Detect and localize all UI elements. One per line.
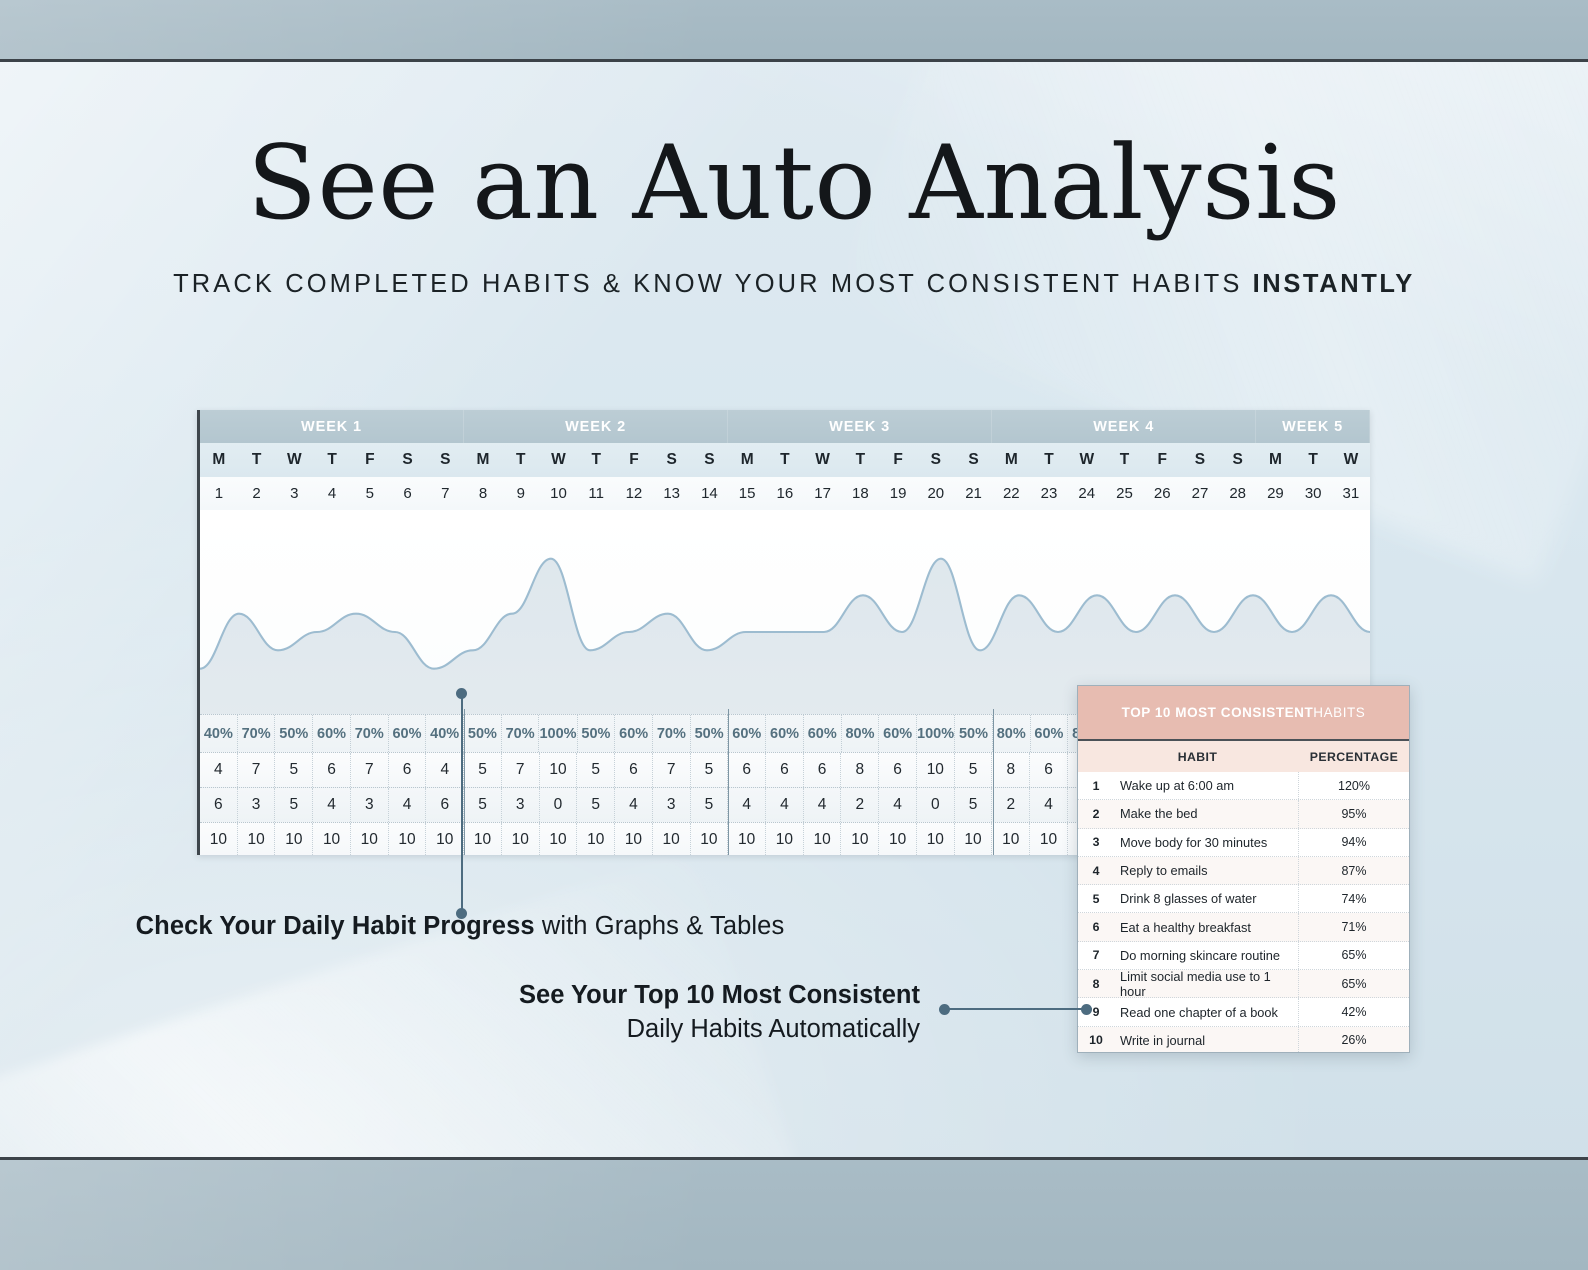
- habit-rank: 2: [1078, 807, 1114, 821]
- remaining-cell: 3: [238, 788, 276, 822]
- total-cell: 10: [502, 823, 540, 855]
- completed-cell: 5: [691, 753, 729, 787]
- total-cell: 10: [351, 823, 389, 855]
- day-of-week-cell: T: [1106, 443, 1144, 477]
- date-cell: 22: [992, 477, 1030, 510]
- date-cell: 15: [728, 477, 766, 510]
- day-of-week-cell: F: [351, 443, 389, 477]
- completed-cell: 4: [426, 753, 464, 787]
- date-cell: 31: [1332, 477, 1370, 510]
- connector-line-vertical: [461, 693, 463, 913]
- percent-cell: 60%: [615, 715, 653, 752]
- remaining-cell: 3: [502, 788, 540, 822]
- top-10-table-row[interactable]: 7Do morning skincare routine65%: [1078, 942, 1409, 970]
- date-cell: 4: [313, 477, 351, 510]
- day-of-week-cell: S: [1181, 443, 1219, 477]
- caption2-line2: Daily Habits Automatically: [0, 1012, 920, 1046]
- connector-dot-chart: [456, 688, 467, 699]
- remaining-cell: 5: [691, 788, 729, 822]
- total-cell: 10: [540, 823, 578, 855]
- total-cell: 10: [577, 823, 615, 855]
- completed-cell: 8: [992, 753, 1030, 787]
- habit-name: Reply to emails: [1114, 857, 1299, 884]
- date-cell: 27: [1181, 477, 1219, 510]
- top-10-table-row[interactable]: 2Make the bed95%: [1078, 800, 1409, 828]
- top-10-rows-container: 1Wake up at 6:00 am120%2Make the bed95%3…: [1078, 772, 1409, 1053]
- total-cell: 10: [1030, 823, 1068, 855]
- day-of-week-cell: M: [1257, 443, 1295, 477]
- percent-cell: 100%: [539, 715, 577, 752]
- completed-cell: 6: [615, 753, 653, 787]
- day-of-week-cell: F: [879, 443, 917, 477]
- completed-cell: 5: [275, 753, 313, 787]
- date-cell: 6: [389, 477, 427, 510]
- date-cell: 10: [540, 477, 578, 510]
- percent-cell: 70%: [653, 715, 691, 752]
- habit-percentage: 120%: [1299, 779, 1409, 793]
- top-10-table-row[interactable]: 1Wake up at 6:00 am120%: [1078, 772, 1409, 800]
- top-10-column-header-row: HABIT PERCENTAGE: [1078, 741, 1409, 772]
- date-cell: 7: [426, 477, 464, 510]
- completed-cell: 5: [955, 753, 993, 787]
- total-cell: 10: [389, 823, 427, 855]
- total-cell: 10: [313, 823, 351, 855]
- percent-cell: 60%: [728, 715, 766, 752]
- habit-rank: 1: [1078, 779, 1114, 793]
- caption-daily-habit-progress: Check Your Daily Habit Progress with Gra…: [0, 912, 920, 941]
- total-cell: 10: [917, 823, 955, 855]
- remaining-cell: 3: [653, 788, 691, 822]
- total-cell: 10: [464, 823, 502, 855]
- day-of-week-cell: F: [1143, 443, 1181, 477]
- habit-percentage: 65%: [1299, 948, 1409, 962]
- habit-rank: 8: [1078, 977, 1114, 991]
- percent-cell: 60%: [804, 715, 842, 752]
- habit-rank: 6: [1078, 920, 1114, 934]
- total-cell: 10: [691, 823, 729, 855]
- day-of-week-cell: W: [804, 443, 842, 477]
- top-10-table-row[interactable]: 5Drink 8 glasses of water74%: [1078, 885, 1409, 913]
- remaining-cell: 0: [917, 788, 955, 822]
- date-cell: 21: [955, 477, 993, 510]
- total-cell: 10: [200, 823, 238, 855]
- subtitle-bold-text: INSTANTLY: [1253, 270, 1415, 298]
- day-of-week-cell: T: [841, 443, 879, 477]
- completed-cell: 6: [728, 753, 766, 787]
- completed-cell: 10: [917, 753, 955, 787]
- connector-dot-top10: [1081, 1004, 1092, 1015]
- day-of-week-row: MTWTFSSMTWTFSSMTWTFSSMTWTFSSMTW: [200, 443, 1370, 477]
- day-of-week-cell: S: [691, 443, 729, 477]
- remaining-cell: 4: [615, 788, 653, 822]
- day-of-week-cell: M: [464, 443, 502, 477]
- completed-cell: 6: [804, 753, 842, 787]
- day-of-week-cell: S: [955, 443, 993, 477]
- week-header-row: WEEK 1WEEK 2WEEK 3WEEK 4WEEK 5: [200, 410, 1370, 443]
- day-of-week-cell: W: [1068, 443, 1106, 477]
- completed-cell: 8: [841, 753, 879, 787]
- remaining-cell: 4: [766, 788, 804, 822]
- date-cell: 16: [766, 477, 804, 510]
- column-header-percentage: PERCENTAGE: [1299, 750, 1409, 764]
- completed-cell: 7: [502, 753, 540, 787]
- day-of-week-cell: S: [653, 443, 691, 477]
- date-cell: 12: [615, 477, 653, 510]
- date-number-row: 1234567891011121314151617181920212223242…: [200, 477, 1370, 510]
- remaining-cell: 6: [200, 788, 238, 822]
- day-of-week-cell: T: [238, 443, 276, 477]
- completed-cell: 6: [389, 753, 427, 787]
- day-of-week-cell: S: [917, 443, 955, 477]
- remaining-cell: 4: [879, 788, 917, 822]
- habit-name: Do morning skincare routine: [1114, 942, 1299, 969]
- percent-cell: 40%: [426, 715, 464, 752]
- date-cell: 30: [1294, 477, 1332, 510]
- date-cell: 14: [691, 477, 729, 510]
- remaining-cell: 5: [275, 788, 313, 822]
- week-header-cell: WEEK 1: [200, 410, 464, 443]
- percent-cell: 100%: [917, 715, 955, 752]
- top-10-consistent-habits-panel[interactable]: TOP 10 MOST CONSISTENT HABITS HABIT PERC…: [1077, 685, 1410, 1053]
- remaining-cell: 4: [389, 788, 427, 822]
- habit-rank: 10: [1078, 1033, 1114, 1047]
- habit-rank: 5: [1078, 892, 1114, 906]
- percent-cell: 70%: [502, 715, 540, 752]
- day-of-week-cell: T: [1030, 443, 1068, 477]
- total-cell: 10: [653, 823, 691, 855]
- remaining-cell: 6: [426, 788, 464, 822]
- week-header-cell: WEEK 3: [728, 410, 992, 443]
- date-cell: 8: [464, 477, 502, 510]
- page-subtitle: TRACK COMPLETED HABITS & KNOW YOUR MOST …: [0, 270, 1588, 299]
- percent-cell: 60%: [313, 715, 351, 752]
- remaining-cell: 3: [351, 788, 389, 822]
- day-of-week-cell: T: [313, 443, 351, 477]
- completed-cell: 6: [879, 753, 917, 787]
- date-cell: 29: [1257, 477, 1295, 510]
- page-title: See an Auto Analysis: [0, 130, 1588, 237]
- remaining-cell: 4: [313, 788, 351, 822]
- percent-cell: 50%: [464, 715, 502, 752]
- subtitle-regular-text: TRACK COMPLETED HABITS & KNOW YOUR MOST …: [173, 270, 1253, 298]
- habit-percentage: 26%: [1299, 1033, 1409, 1047]
- percent-cell: 60%: [1031, 715, 1069, 752]
- percent-cell: 50%: [955, 715, 993, 752]
- total-cell: 10: [728, 823, 766, 855]
- day-of-week-cell: M: [200, 443, 238, 477]
- habit-percentage: 95%: [1299, 807, 1409, 821]
- percent-cell: 60%: [879, 715, 917, 752]
- top-10-table-row[interactable]: 6Eat a healthy breakfast71%: [1078, 913, 1409, 941]
- completed-cell: 7: [653, 753, 691, 787]
- habit-percentage: 42%: [1299, 1005, 1409, 1019]
- date-cell: 11: [577, 477, 615, 510]
- date-cell: 25: [1106, 477, 1144, 510]
- caption-top-10-consistent: See Your Top 10 Most Consistent Daily Ha…: [0, 978, 920, 1046]
- top-banner-bar: [0, 0, 1588, 62]
- completed-cell: 6: [313, 753, 351, 787]
- habit-name: Drink 8 glasses of water: [1114, 885, 1299, 912]
- remaining-cell: 5: [577, 788, 615, 822]
- completed-cell: 5: [577, 753, 615, 787]
- remaining-cell: 4: [804, 788, 842, 822]
- percent-cell: 50%: [275, 715, 313, 752]
- completed-cell: 6: [766, 753, 804, 787]
- total-cell: 10: [841, 823, 879, 855]
- date-cell: 18: [841, 477, 879, 510]
- day-of-week-cell: T: [577, 443, 615, 477]
- percent-cell: 50%: [578, 715, 616, 752]
- caption2-line1: See Your Top 10 Most Consistent: [0, 978, 920, 1012]
- week-header-cell: WEEK 5: [1256, 410, 1370, 443]
- habit-name: Write in journal: [1114, 1027, 1299, 1053]
- column-header-habit: HABIT: [1114, 750, 1299, 764]
- completed-cell: 5: [464, 753, 502, 787]
- day-of-week-cell: T: [1294, 443, 1332, 477]
- remaining-cell: 2: [841, 788, 879, 822]
- total-cell: 10: [426, 823, 464, 855]
- completed-cell: 7: [238, 753, 276, 787]
- completed-cell: 10: [540, 753, 578, 787]
- top-10-table-row[interactable]: 8Limit social media use to 1 hour65%: [1078, 970, 1409, 998]
- total-cell: 10: [879, 823, 917, 855]
- percent-cell: 40%: [200, 715, 238, 752]
- habit-name: Make the bed: [1114, 800, 1299, 827]
- habit-name: Wake up at 6:00 am: [1114, 772, 1299, 799]
- day-of-week-cell: W: [275, 443, 313, 477]
- top-10-table-row[interactable]: 3Move body for 30 minutes94%: [1078, 829, 1409, 857]
- percent-cell: 80%: [993, 715, 1031, 752]
- top-10-title-light: HABITS: [1313, 705, 1365, 720]
- habit-percentage: 74%: [1299, 892, 1409, 906]
- top-10-title-strong: TOP 10 MOST CONSISTENT: [1122, 705, 1314, 720]
- total-cell: 10: [955, 823, 993, 855]
- caption1-bold: Check Your Daily Habit Progress: [136, 912, 535, 940]
- week-header-cell: WEEK 4: [992, 410, 1256, 443]
- habit-percentage: 71%: [1299, 920, 1409, 934]
- day-of-week-cell: M: [992, 443, 1030, 477]
- completed-cell: 4: [200, 753, 238, 787]
- connector-line-horizontal: [944, 1008, 1092, 1010]
- day-of-week-cell: W: [540, 443, 578, 477]
- remaining-cell: 4: [728, 788, 766, 822]
- day-of-week-cell: S: [389, 443, 427, 477]
- top-10-table-row[interactable]: 10Write in journal26%: [1078, 1027, 1409, 1053]
- date-cell: 13: [653, 477, 691, 510]
- day-of-week-cell: F: [615, 443, 653, 477]
- date-cell: 23: [1030, 477, 1068, 510]
- date-cell: 20: [917, 477, 955, 510]
- habit-percentage: 65%: [1299, 977, 1409, 991]
- total-cell: 10: [615, 823, 653, 855]
- chart-svg: [200, 510, 1370, 714]
- date-cell: 3: [275, 477, 313, 510]
- remaining-cell: 2: [992, 788, 1030, 822]
- habit-name: Limit social media use to 1 hour: [1114, 970, 1299, 997]
- day-of-week-cell: T: [502, 443, 540, 477]
- completed-cell: 7: [351, 753, 389, 787]
- percent-cell: 70%: [238, 715, 276, 752]
- date-cell: 2: [238, 477, 276, 510]
- remaining-cell: 5: [955, 788, 993, 822]
- date-cell: 24: [1068, 477, 1106, 510]
- total-cell: 10: [804, 823, 842, 855]
- total-cell: 10: [992, 823, 1030, 855]
- date-cell: 1: [200, 477, 238, 510]
- habit-name: Read one chapter of a book: [1114, 998, 1299, 1025]
- day-of-week-cell: S: [1219, 443, 1257, 477]
- total-cell: 10: [766, 823, 804, 855]
- remaining-cell: 4: [1030, 788, 1068, 822]
- habit-name: Eat a healthy breakfast: [1114, 913, 1299, 940]
- top-10-table-row[interactable]: 4Reply to emails87%: [1078, 857, 1409, 885]
- habit-name: Move body for 30 minutes: [1114, 829, 1299, 856]
- date-cell: 9: [502, 477, 540, 510]
- habit-progress-area-chart: [200, 510, 1370, 714]
- day-of-week-cell: W: [1332, 443, 1370, 477]
- habit-rank: 7: [1078, 948, 1114, 962]
- percent-cell: 70%: [351, 715, 389, 752]
- total-cell: 10: [238, 823, 276, 855]
- day-of-week-cell: T: [766, 443, 804, 477]
- remaining-cell: 5: [464, 788, 502, 822]
- habit-percentage: 87%: [1299, 864, 1409, 878]
- date-cell: 28: [1219, 477, 1257, 510]
- date-cell: 26: [1143, 477, 1181, 510]
- date-cell: 17: [804, 477, 842, 510]
- remaining-cell: 0: [540, 788, 578, 822]
- total-cell: 10: [275, 823, 313, 855]
- completed-cell: 6: [1030, 753, 1068, 787]
- day-of-week-cell: S: [426, 443, 464, 477]
- top-10-table-row[interactable]: 9Read one chapter of a book42%: [1078, 998, 1409, 1026]
- habit-percentage: 94%: [1299, 835, 1409, 849]
- percent-cell: 50%: [691, 715, 729, 752]
- top-10-panel-title: TOP 10 MOST CONSISTENT HABITS: [1078, 686, 1409, 741]
- date-cell: 5: [351, 477, 389, 510]
- percent-cell: 80%: [842, 715, 880, 752]
- percent-cell: 60%: [389, 715, 427, 752]
- connector-dot-caption-two: [939, 1004, 950, 1015]
- day-of-week-cell: M: [728, 443, 766, 477]
- date-cell: 19: [879, 477, 917, 510]
- bottom-banner-bar: [0, 1157, 1588, 1270]
- habit-rank: 4: [1078, 864, 1114, 878]
- week-header-cell: WEEK 2: [464, 410, 728, 443]
- habit-rank: 3: [1078, 835, 1114, 849]
- percent-cell: 60%: [766, 715, 804, 752]
- caption1-regular: with Graphs & Tables: [535, 912, 785, 940]
